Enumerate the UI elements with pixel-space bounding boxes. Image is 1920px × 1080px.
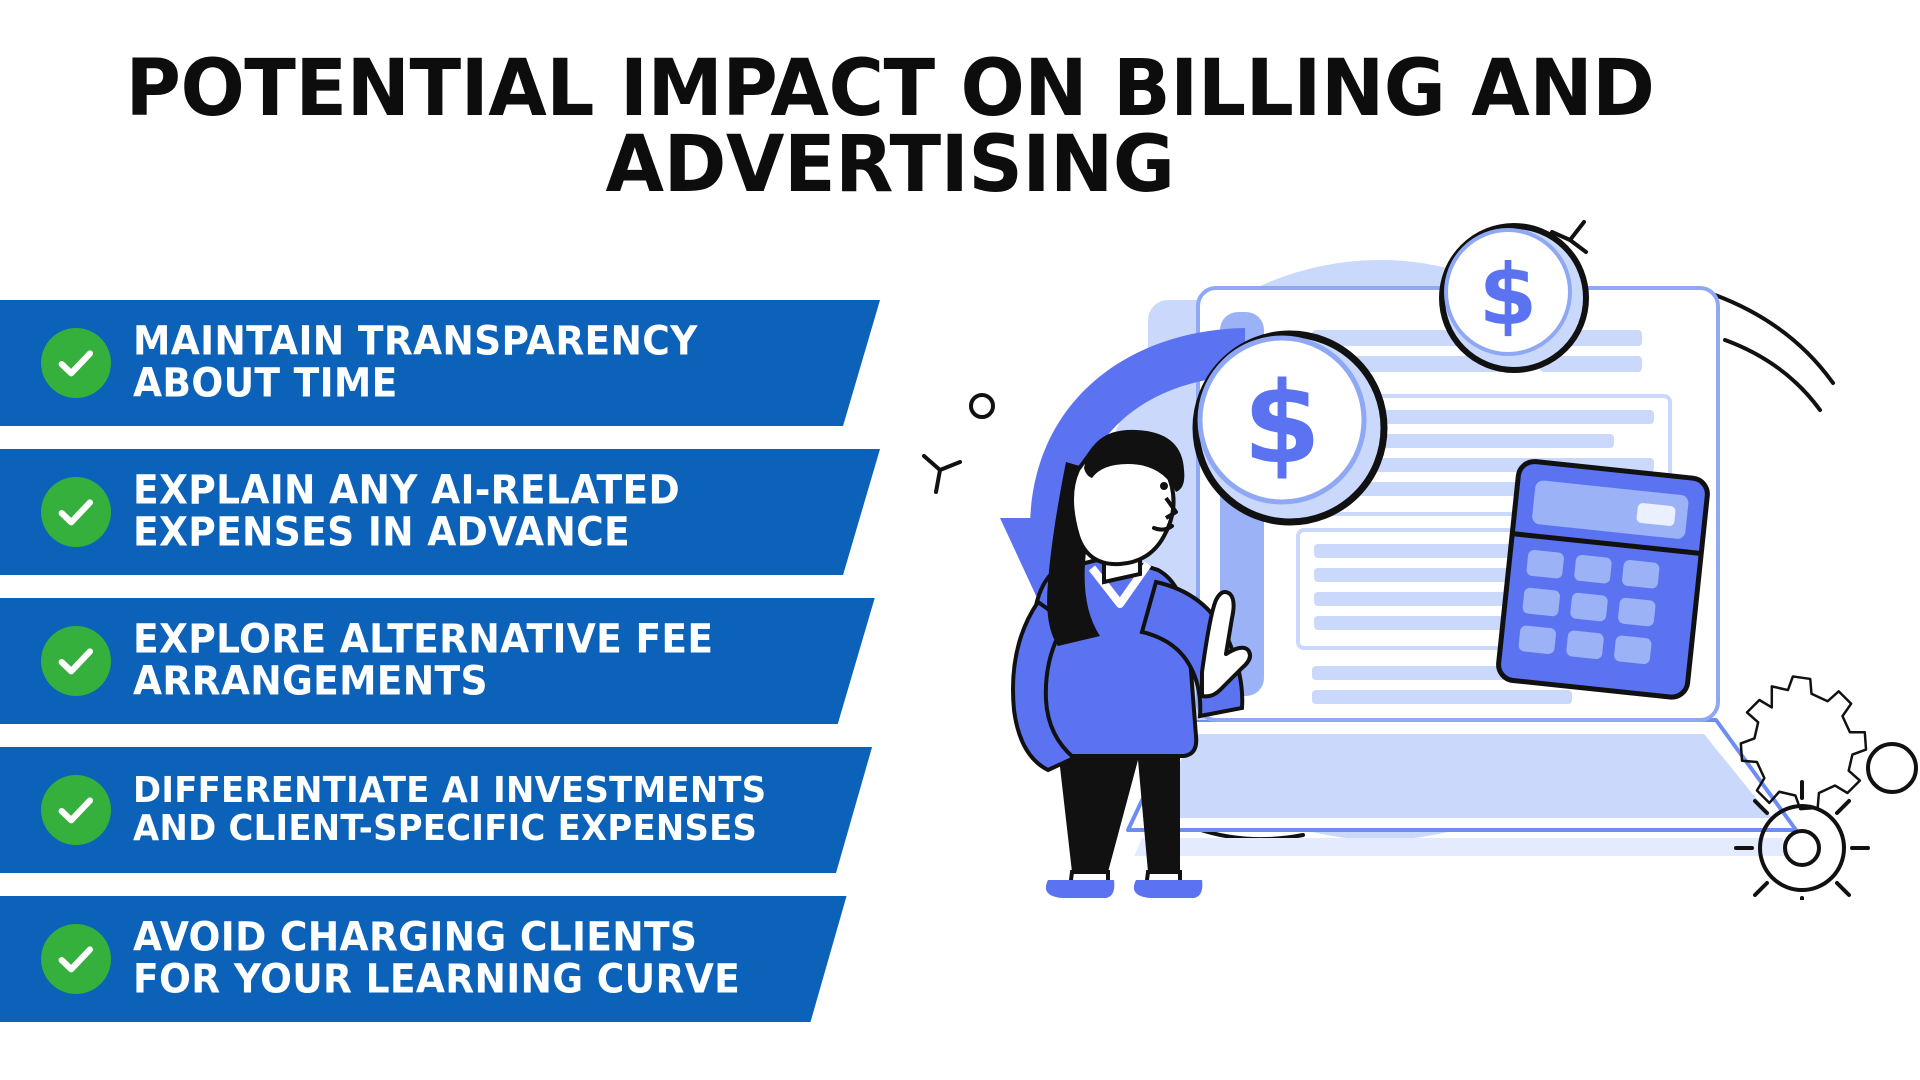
list-item[interactable]: EXPLAIN ANY AI-RELATED EXPENSES IN ADVAN… bbox=[0, 449, 920, 575]
dollar-coin-small: $ bbox=[1442, 226, 1586, 370]
slide-canvas: POTENTIAL IMPACT ON BILLING AND ADVERTIS… bbox=[0, 0, 1920, 1080]
list-item[interactable]: AVOID CHARGING CLIENTS FOR YOUR LEARNING… bbox=[0, 896, 920, 1022]
arc-decoration bbox=[1715, 295, 1833, 410]
check-circle-icon bbox=[41, 328, 111, 398]
list-item[interactable]: DIFFERENTIATE AI INVESTMENTS AND CLIENT-… bbox=[0, 747, 920, 873]
check-circle-icon bbox=[41, 477, 111, 547]
list-item[interactable]: MAINTAIN TRANSPARENCY ABOUT TIME bbox=[0, 300, 920, 426]
list-item-label: AVOID CHARGING CLIENTS FOR YOUR LEARNING… bbox=[133, 917, 847, 1002]
checklist: MAINTAIN TRANSPARENCY ABOUT TIME EXPLAIN… bbox=[0, 300, 920, 1045]
list-item-label: EXPLAIN ANY AI-RELATED EXPENSES IN ADVAN… bbox=[133, 470, 847, 555]
page-title: POTENTIAL IMPACT ON BILLING AND ADVERTIS… bbox=[124, 52, 1657, 203]
list-item-label: DIFFERENTIATE AI INVESTMENTS AND CLIENT-… bbox=[133, 772, 847, 848]
check-circle-icon bbox=[41, 626, 111, 696]
svg-text:$: $ bbox=[1243, 359, 1321, 489]
list-item-label: MAINTAIN TRANSPARENCY ABOUT TIME bbox=[133, 321, 847, 406]
check-circle-icon bbox=[41, 924, 111, 994]
dot-decoration bbox=[971, 395, 993, 417]
list-item-label: EXPLORE ALTERNATIVE FEE ARRANGEMENTS bbox=[133, 619, 847, 704]
billing-illustration: $ $ bbox=[880, 200, 1920, 900]
dollar-coin-large: $ bbox=[1196, 334, 1384, 522]
calculator-icon bbox=[1497, 460, 1709, 699]
list-item[interactable]: EXPLORE ALTERNATIVE FEE ARRANGEMENTS bbox=[0, 598, 920, 724]
check-circle-icon bbox=[41, 775, 111, 845]
svg-text:$: $ bbox=[1479, 246, 1537, 344]
